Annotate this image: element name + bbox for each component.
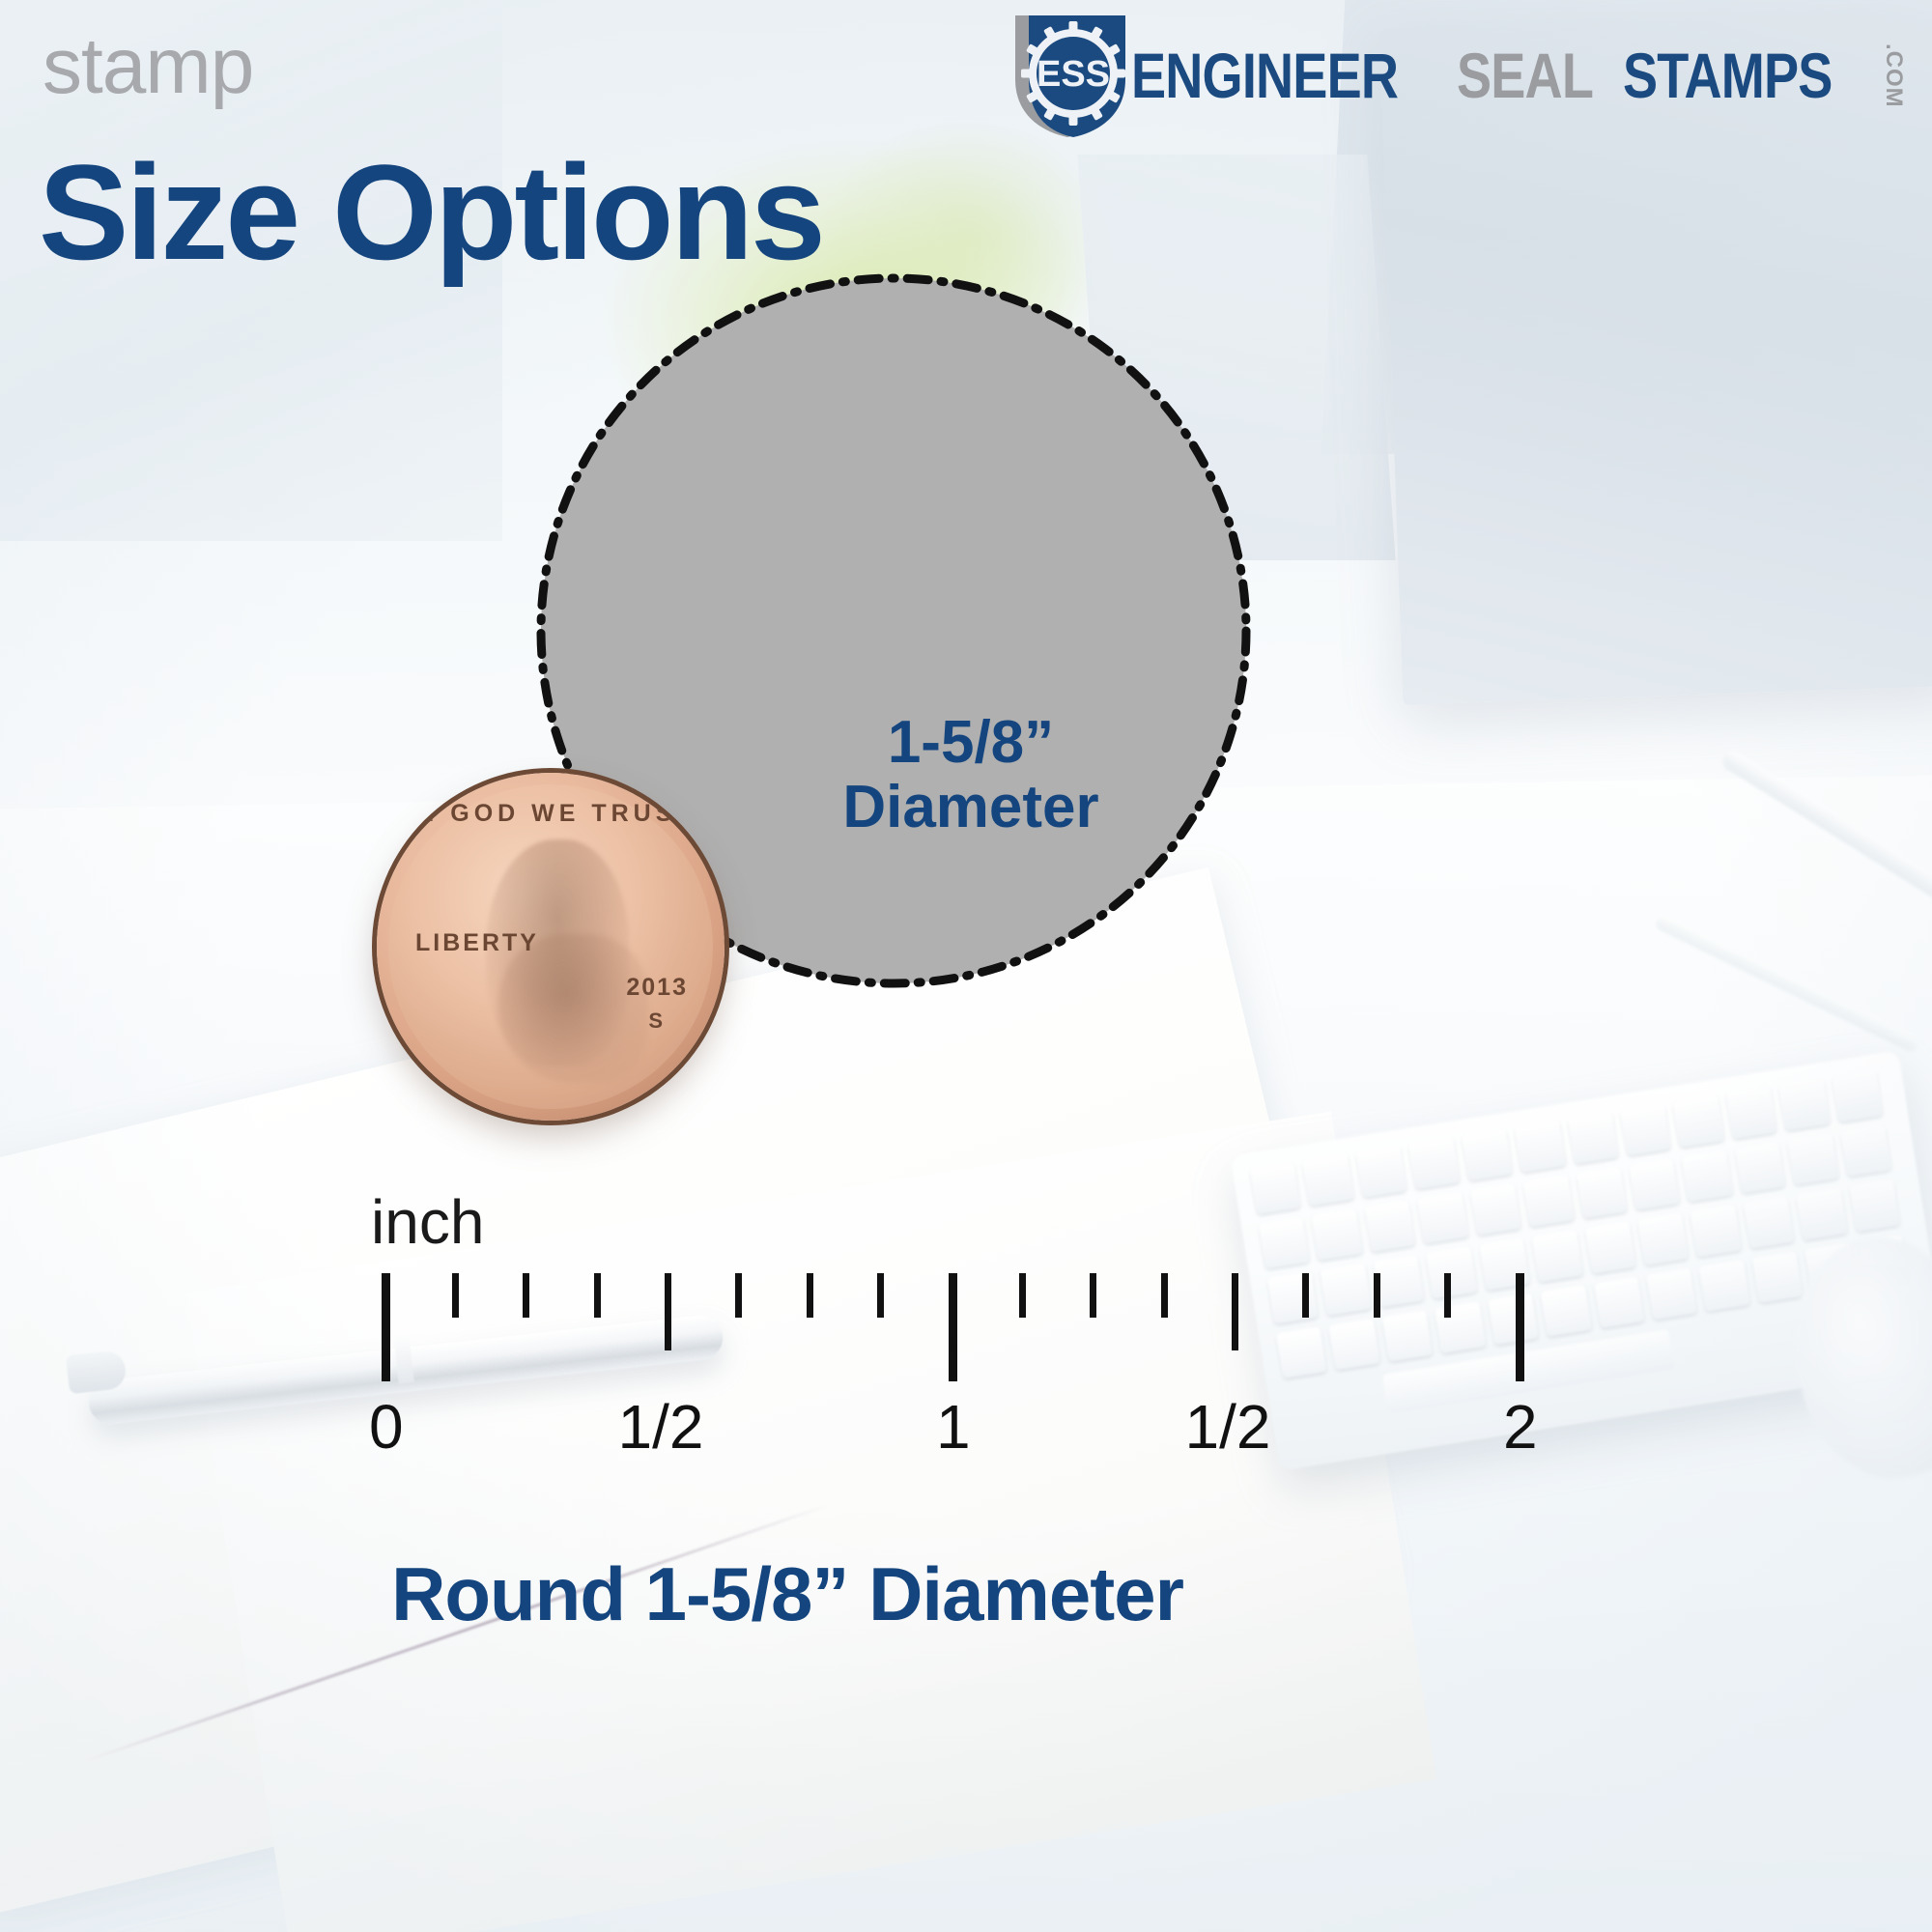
penny-motto: IN GOD WE TRUST [388, 800, 713, 828]
size-options-graphic: stamp Size Options [0, 0, 1932, 1932]
gear-shield-icon: ESS [1009, 12, 1125, 139]
badge-text: ESS [1037, 54, 1110, 95]
penny-coin: IN GOD WE TRUST LIBERTY 2013 S [377, 773, 724, 1121]
size-caption: Round 1-5/8” Diameter [0, 1550, 1932, 1638]
size-caption-text: Round 1-5/8” Diameter [391, 1550, 1183, 1638]
logo-word-seal: SEAL [1457, 43, 1593, 107]
logo-word-stamps: STAMPS [1623, 43, 1833, 107]
logo-wordmark: ENGINEER SEAL STAMPS .COM [1131, 43, 1907, 108]
page-title: Size Options [39, 145, 823, 280]
penny-year: 2013 [626, 974, 688, 1002]
eyebrow-label: stamp [43, 27, 253, 106]
logo-word-engineer: ENGINEER [1131, 43, 1398, 107]
ruler-unit-label: inch [371, 1186, 484, 1258]
circle-size-value: 1-5/8” [888, 711, 1054, 776]
penny-mint-mark: S [648, 1009, 663, 1034]
ess-logo[interactable]: ESS ENGINEER SEAL STAMPS .COM [1009, 17, 1907, 133]
penny-liberty: LIBERTY [415, 929, 539, 957]
logo-tld: .COM [1880, 43, 1907, 108]
penny-face: IN GOD WE TRUST LIBERTY 2013 S [388, 784, 713, 1109]
circle-size-unit: Diameter [842, 776, 1098, 840]
